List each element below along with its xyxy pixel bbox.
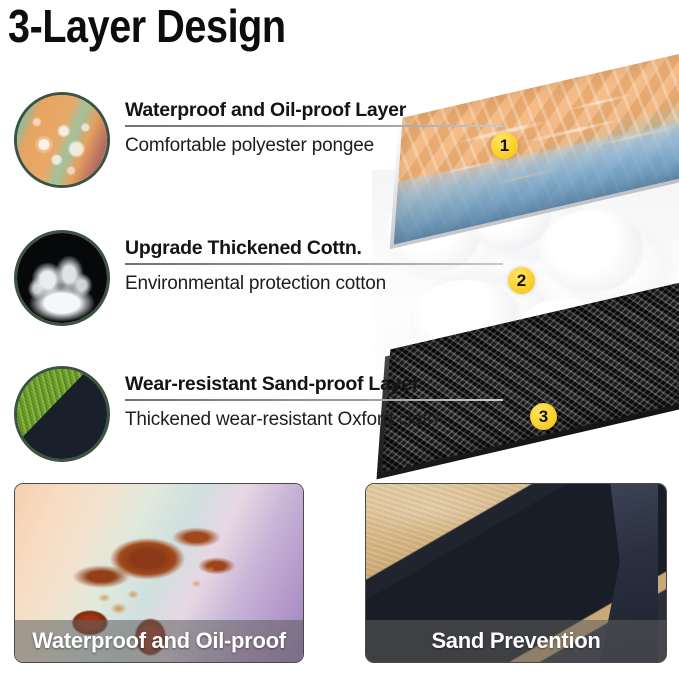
feature-title: Wear-resistant Sand-proof Layer	[125, 372, 555, 396]
feature-text-block: Wear-resistant Sand-proof Layer Thickene…	[125, 372, 555, 432]
feature-divider	[125, 263, 503, 265]
feature-row-sandproof: Wear-resistant Sand-proof Layer Thickene…	[0, 362, 560, 466]
panel-caption-band: Waterproof and Oil-proof	[15, 620, 303, 662]
panel-caption: Waterproof and Oil-proof	[32, 628, 286, 654]
cotton-fiber-icon	[17, 233, 107, 323]
thumbnail-cotton-fiber-icon	[14, 230, 110, 326]
layer-badge-3: 3	[530, 403, 557, 430]
water-droplets-icon	[17, 95, 107, 185]
layer-badge-2: 2	[508, 267, 535, 294]
feature-row-waterproof: Waterproof and Oil-proof Layer Comfortab…	[0, 88, 560, 192]
feature-title: Upgrade Thickened Cottn.	[125, 236, 555, 260]
feature-divider	[125, 399, 503, 401]
feature-title: Waterproof and Oil-proof Layer	[125, 98, 555, 122]
page-title: 3-Layer Design	[8, 2, 286, 51]
panel-caption: Sand Prevention	[431, 628, 600, 654]
feature-divider	[125, 125, 503, 127]
feature-subtitle: Environmental protection cotton	[125, 272, 555, 296]
panel-waterproof-oilproof: Waterproof and Oil-proof	[14, 483, 304, 663]
thumbnail-water-droplets-icon	[14, 92, 110, 188]
feature-text-block: Upgrade Thickened Cottn. Environmental p…	[125, 236, 555, 296]
feature-row-cotton: Upgrade Thickened Cottn. Environmental p…	[0, 226, 560, 330]
panel-sand-prevention: Sand Prevention	[365, 483, 667, 663]
feature-subtitle: Thickened wear-resistant Oxford cloth	[125, 408, 555, 432]
grass-cloth-icon	[17, 369, 107, 459]
thumbnail-grass-cloth-icon	[14, 366, 110, 462]
layer-badge-1: 1	[491, 132, 518, 159]
panel-caption-band: Sand Prevention	[366, 620, 666, 662]
